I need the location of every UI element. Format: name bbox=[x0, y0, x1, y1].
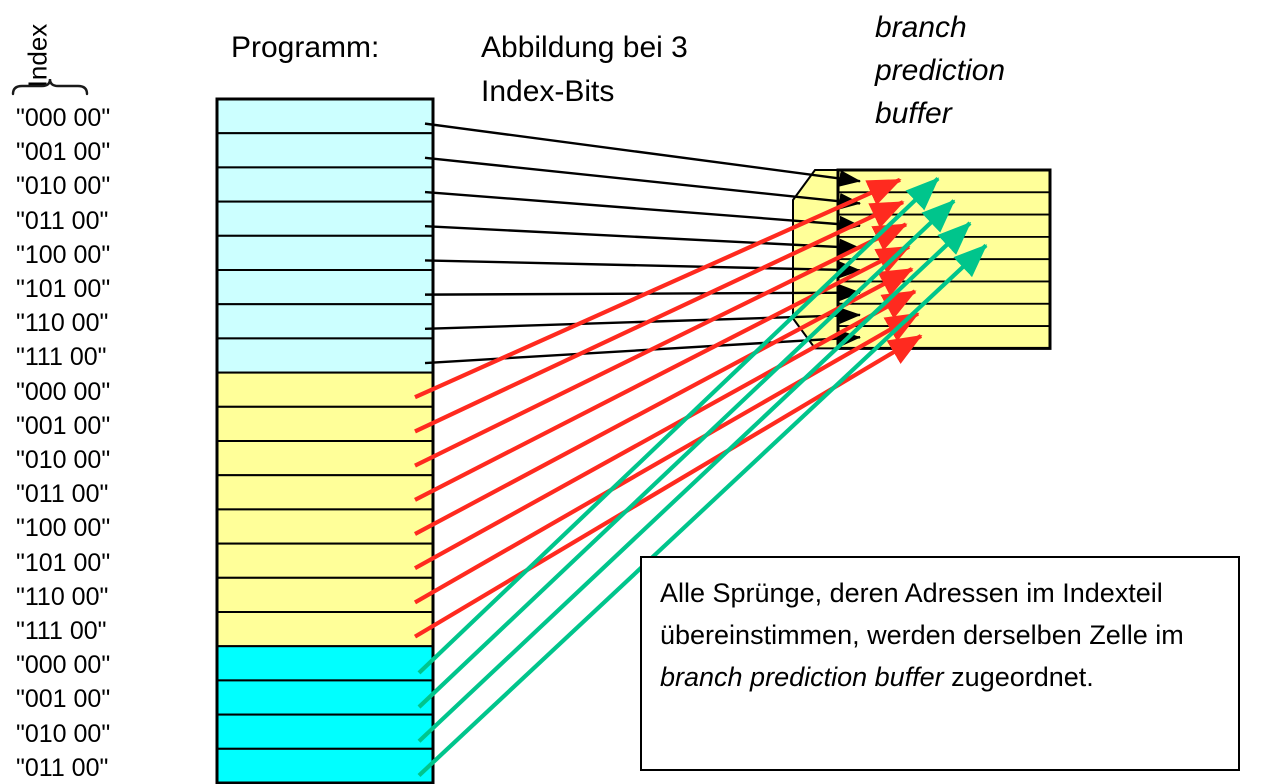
program-row bbox=[217, 373, 433, 407]
caption-text: Alle Sprünge, deren Adressen im Indextei… bbox=[660, 572, 1220, 698]
program-row bbox=[217, 749, 433, 783]
program-row bbox=[217, 475, 433, 509]
caption-italic: branch prediction buffer bbox=[660, 662, 944, 692]
caption-part2: zugeordnet. bbox=[944, 662, 1094, 692]
program-row bbox=[217, 133, 433, 167]
program-row bbox=[217, 202, 433, 236]
buffer-row bbox=[838, 326, 1050, 348]
program-row bbox=[217, 441, 433, 475]
program-row bbox=[217, 646, 433, 680]
program-row bbox=[217, 544, 433, 578]
program-row bbox=[217, 715, 433, 749]
program-row bbox=[217, 680, 433, 714]
program-row bbox=[217, 236, 433, 270]
program-column bbox=[217, 99, 433, 783]
caption-box: Alle Sprünge, deren Adressen im Indextei… bbox=[640, 556, 1240, 771]
program-row bbox=[217, 270, 433, 304]
index-brace bbox=[13, 79, 87, 94]
buffer-row bbox=[838, 170, 1050, 192]
program-row bbox=[217, 612, 433, 646]
branch-prediction-buffer bbox=[838, 170, 1050, 348]
program-row bbox=[217, 509, 433, 543]
program-row bbox=[217, 304, 433, 338]
program-row bbox=[217, 407, 433, 441]
mapping-arrow-black bbox=[425, 124, 860, 182]
program-row bbox=[217, 167, 433, 201]
caption-part1: Alle Sprünge, deren Adressen im Indextei… bbox=[660, 578, 1184, 650]
diagram-canvas: Index Programm: Abbildung bei 3 Index-Bi… bbox=[0, 0, 1261, 784]
program-row bbox=[217, 99, 433, 133]
program-row bbox=[217, 578, 433, 612]
program-row bbox=[217, 338, 433, 372]
